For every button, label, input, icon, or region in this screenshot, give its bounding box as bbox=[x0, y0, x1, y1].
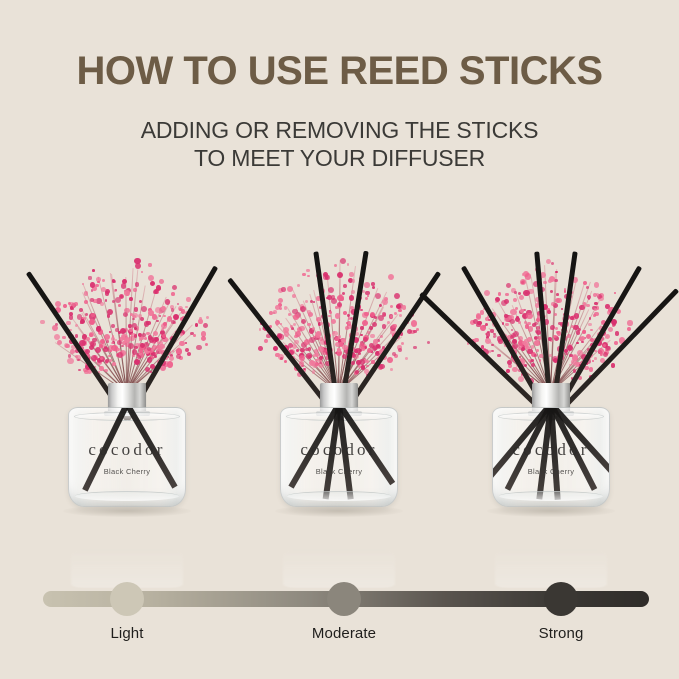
flower-bloom bbox=[387, 357, 393, 363]
flower-bloom bbox=[294, 335, 298, 339]
flower-bloom bbox=[364, 339, 367, 342]
flower-bloom bbox=[556, 331, 560, 335]
flower-bloom bbox=[535, 330, 538, 333]
flower-bloom bbox=[323, 274, 328, 279]
flower-bloom bbox=[362, 320, 368, 326]
flower-bloom bbox=[148, 348, 154, 354]
flower-bloom bbox=[133, 288, 136, 291]
flower-bloom bbox=[394, 312, 397, 315]
flower-bloom bbox=[550, 325, 555, 330]
flower-bloom bbox=[96, 326, 101, 331]
flower-bloom bbox=[427, 341, 431, 345]
flower-bloom bbox=[551, 302, 555, 306]
flower-stem bbox=[338, 277, 341, 392]
flower-bloom bbox=[373, 339, 379, 345]
flower-bloom bbox=[518, 340, 524, 346]
flower-bloom bbox=[337, 302, 342, 307]
flower-bloom bbox=[594, 312, 598, 316]
flower-bloom bbox=[525, 292, 528, 295]
flower-bloom bbox=[536, 349, 539, 352]
flower-bloom bbox=[144, 347, 147, 350]
flower-bloom bbox=[390, 305, 393, 308]
flower-bloom bbox=[97, 358, 102, 363]
flower-bloom bbox=[312, 370, 315, 373]
flower-bloom bbox=[558, 322, 562, 326]
flower-bloom bbox=[124, 337, 129, 342]
flower-bloom bbox=[179, 341, 184, 346]
flower-bloom bbox=[105, 360, 108, 363]
flower-bloom bbox=[152, 314, 158, 320]
flower-bloom bbox=[138, 352, 143, 357]
flower-bloom bbox=[160, 330, 165, 335]
flower-bloom bbox=[148, 335, 153, 340]
flower-stem bbox=[126, 310, 184, 393]
flower-bloom bbox=[306, 353, 312, 359]
flower-bloom bbox=[337, 295, 343, 301]
flower-bloom bbox=[345, 326, 349, 330]
flower-bloom bbox=[397, 303, 403, 309]
flower-bloom bbox=[92, 286, 97, 291]
flower-bloom bbox=[170, 354, 173, 357]
diffuser-comparison-group: cocodor Black Cherry cocodor Black Cherr… bbox=[0, 205, 679, 565]
flower-bloom bbox=[157, 341, 159, 343]
flower-bloom bbox=[347, 321, 352, 326]
flower-bloom bbox=[288, 313, 291, 316]
flower-bloom bbox=[135, 282, 140, 287]
flower-bloom bbox=[318, 322, 322, 326]
flower-bloom bbox=[308, 347, 312, 351]
flower-bloom bbox=[598, 348, 604, 354]
flower-bloom bbox=[124, 290, 126, 292]
flower-bloom bbox=[588, 298, 591, 301]
flower-bloom bbox=[193, 334, 196, 337]
flower-bloom bbox=[90, 298, 93, 301]
bottle-label: cocodor Black Cherry bbox=[492, 441, 610, 476]
flower-bloom bbox=[163, 315, 166, 318]
flower-bloom bbox=[382, 299, 388, 305]
flower-bloom bbox=[144, 342, 149, 347]
flower-bloom bbox=[534, 337, 537, 340]
flower-bloom bbox=[153, 290, 157, 294]
flower-bloom bbox=[142, 333, 146, 337]
flower-bloom bbox=[374, 316, 377, 319]
flower-bloom bbox=[75, 355, 78, 358]
flower-bloom bbox=[321, 349, 327, 355]
flower-bloom bbox=[486, 336, 489, 339]
intensity-label-light: Light bbox=[47, 625, 207, 642]
flower-bloom bbox=[138, 333, 142, 337]
flower-bloom bbox=[111, 337, 115, 341]
flower-bloom bbox=[319, 337, 323, 341]
flower-bloom bbox=[80, 322, 82, 324]
diffuser-moderate: cocodor Black Cherry bbox=[234, 205, 444, 565]
flower-bloom bbox=[164, 361, 169, 366]
flower-bloom bbox=[186, 297, 191, 302]
flower-bloom bbox=[597, 294, 602, 299]
flower-bloom bbox=[131, 333, 135, 337]
flower-bloom bbox=[349, 295, 355, 301]
flower-bloom bbox=[91, 342, 94, 345]
flower-bloom bbox=[371, 282, 375, 286]
flower-bloom bbox=[348, 278, 353, 283]
flower-bloom bbox=[587, 295, 591, 299]
flower-bloom bbox=[369, 326, 373, 330]
flower-bloom bbox=[315, 362, 319, 366]
flower-bloom bbox=[147, 347, 151, 351]
flower-bloom bbox=[92, 338, 97, 343]
flower-bloom bbox=[505, 323, 508, 326]
flower-bloom bbox=[203, 323, 208, 328]
flower-bloom bbox=[515, 307, 518, 310]
flower-bloom bbox=[551, 262, 555, 266]
flower-bloom bbox=[300, 304, 305, 309]
flower-bloom bbox=[382, 324, 386, 328]
flower-bloom bbox=[104, 346, 107, 349]
flower-bloom bbox=[97, 281, 99, 283]
flower-bloom bbox=[490, 329, 493, 332]
flower-bloom bbox=[162, 335, 166, 339]
flower-bloom bbox=[319, 362, 321, 364]
flower-bloom bbox=[100, 339, 106, 345]
bottle-label: cocodor Black Cherry bbox=[280, 441, 398, 476]
flower-bloom bbox=[554, 336, 559, 341]
flower-bloom bbox=[556, 293, 559, 296]
flower-bloom bbox=[304, 339, 310, 345]
flower-bloom bbox=[69, 302, 74, 307]
flower-bloom bbox=[147, 357, 152, 362]
flower-bloom bbox=[539, 359, 542, 362]
flower-bloom bbox=[524, 339, 528, 343]
flower-bloom bbox=[264, 339, 268, 343]
flower-bloom bbox=[534, 354, 538, 358]
flower-bloom bbox=[106, 340, 108, 342]
flower-bloom bbox=[413, 330, 417, 334]
flower-bloom bbox=[370, 313, 375, 318]
flower-bloom bbox=[95, 347, 101, 353]
flower-bloom bbox=[519, 295, 524, 300]
flower-bloom bbox=[91, 313, 95, 317]
flower-bloom bbox=[511, 288, 516, 293]
flower-bloom bbox=[52, 325, 58, 331]
flower-bloom bbox=[300, 306, 306, 312]
flower-bloom bbox=[139, 300, 142, 303]
flower-bloom bbox=[553, 303, 558, 308]
flower-bloom bbox=[159, 279, 164, 284]
flower-bloom bbox=[273, 310, 277, 314]
flower-bloom bbox=[196, 345, 202, 351]
flower-bloom bbox=[627, 320, 632, 325]
flower-bloom bbox=[281, 287, 286, 292]
intensity-scale: Light Moderate Strong bbox=[0, 570, 679, 679]
flower-bloom bbox=[206, 316, 209, 319]
intensity-knob-strong[interactable] bbox=[544, 582, 578, 616]
flower-bloom bbox=[568, 344, 571, 347]
flower-bloom bbox=[505, 293, 509, 297]
flower-bloom bbox=[291, 327, 294, 330]
flower-bloom bbox=[172, 350, 174, 352]
flower-bloom bbox=[370, 312, 375, 317]
flower-bloom bbox=[341, 338, 346, 343]
flower-bloom bbox=[134, 258, 140, 264]
bottle-label: cocodor Black Cherry bbox=[68, 441, 186, 476]
flower-bloom bbox=[520, 309, 524, 313]
page-title: HOW TO USE REED STICKS bbox=[0, 0, 679, 92]
flower-bloom bbox=[89, 333, 93, 337]
flower-bloom bbox=[178, 306, 183, 311]
flower-bloom bbox=[159, 311, 162, 314]
flower-bloom bbox=[337, 272, 343, 278]
flower-bloom bbox=[365, 297, 368, 300]
flower-bloom bbox=[273, 312, 276, 315]
diffuser-bottle: cocodor Black Cherry bbox=[280, 407, 398, 507]
flower-bloom bbox=[318, 346, 324, 352]
flower-bloom bbox=[146, 332, 150, 336]
flower-bloom bbox=[97, 326, 101, 330]
flower-bloom bbox=[524, 342, 529, 347]
flower-bloom bbox=[176, 354, 181, 359]
flower-bloom bbox=[534, 322, 537, 325]
flower-bloom bbox=[297, 284, 300, 287]
flower-bloom bbox=[611, 363, 616, 368]
flower-bloom bbox=[299, 326, 304, 331]
flower-bloom bbox=[583, 330, 585, 332]
flower-bloom bbox=[394, 293, 400, 299]
flower-bloom bbox=[119, 337, 123, 341]
flower-bloom bbox=[377, 345, 381, 349]
flower-bloom bbox=[608, 327, 613, 332]
flower-bloom bbox=[573, 354, 577, 358]
flower-stem bbox=[98, 276, 128, 392]
fragrance-name: Black Cherry bbox=[68, 467, 186, 476]
flower-bloom bbox=[109, 331, 111, 333]
flower-bloom bbox=[314, 349, 318, 353]
flower-bloom bbox=[513, 331, 519, 337]
flower-bloom bbox=[480, 310, 484, 314]
flower-bloom bbox=[334, 264, 337, 267]
flower-bloom bbox=[367, 331, 370, 334]
flower-bloom bbox=[588, 323, 591, 326]
flower-bloom bbox=[586, 304, 590, 308]
flower-bloom bbox=[536, 326, 540, 330]
flower-bloom bbox=[185, 348, 189, 352]
flower-bloom bbox=[105, 289, 110, 294]
flower-bloom bbox=[140, 317, 144, 321]
flower-bloom bbox=[318, 362, 324, 368]
flower-bloom bbox=[531, 359, 534, 362]
flower-bloom bbox=[528, 359, 532, 363]
flower-bloom bbox=[169, 356, 174, 361]
flower-bloom bbox=[389, 314, 393, 318]
flower-bloom bbox=[284, 360, 287, 363]
flower-bloom bbox=[382, 312, 387, 317]
flower-bloom bbox=[383, 313, 386, 316]
flower-bloom bbox=[157, 345, 161, 349]
flower-bloom bbox=[112, 279, 116, 283]
page-subtitle: ADDING OR REMOVING THE STICKS TO MEET YO… bbox=[0, 92, 679, 172]
flower-bloom bbox=[62, 336, 65, 339]
flower-bloom bbox=[477, 321, 482, 326]
diffuser-bottle: cocodor Black Cherry bbox=[492, 407, 610, 507]
flower-bloom bbox=[340, 258, 346, 264]
flower-bloom bbox=[316, 331, 321, 336]
flower-bloom bbox=[594, 302, 598, 306]
flower-bloom bbox=[306, 269, 310, 273]
flower-bloom bbox=[484, 290, 490, 296]
flower-bloom bbox=[107, 314, 111, 318]
flower-bloom bbox=[335, 306, 338, 309]
flower-bloom bbox=[305, 348, 308, 351]
flower-bloom bbox=[83, 368, 88, 373]
flower-bloom bbox=[296, 349, 299, 352]
flower-bloom bbox=[172, 285, 178, 291]
flower-bloom bbox=[582, 330, 586, 334]
flower-bloom bbox=[122, 279, 127, 284]
flower-bloom bbox=[112, 341, 115, 344]
flower-bloom bbox=[521, 281, 524, 284]
intensity-knob-moderate[interactable] bbox=[327, 582, 361, 616]
flower-bloom bbox=[337, 352, 340, 355]
flower-bloom bbox=[504, 314, 507, 317]
flower-bloom bbox=[129, 336, 135, 342]
flower-bloom bbox=[495, 297, 500, 302]
flower-bloom bbox=[309, 360, 315, 366]
flower-bloom bbox=[360, 341, 364, 345]
flower-bloom bbox=[516, 316, 519, 319]
flower-bloom bbox=[573, 325, 578, 330]
flower-bloom bbox=[392, 352, 396, 356]
flower-bloom bbox=[112, 335, 115, 338]
flower-bloom bbox=[95, 357, 98, 360]
flower-bloom bbox=[326, 297, 329, 300]
flower-bloom bbox=[74, 302, 78, 306]
flower-bloom bbox=[521, 347, 525, 351]
flower-bloom bbox=[600, 353, 603, 356]
flower-bloom bbox=[522, 348, 525, 351]
flower-bloom bbox=[504, 299, 509, 304]
flower-bloom bbox=[132, 349, 138, 355]
flower-bloom bbox=[159, 341, 163, 345]
flower-bloom bbox=[527, 349, 532, 354]
flower-bloom bbox=[411, 320, 417, 326]
flower-bloom bbox=[114, 289, 117, 292]
flower-stem bbox=[110, 273, 128, 392]
flower-bloom bbox=[280, 357, 283, 360]
flower-bloom bbox=[100, 343, 105, 348]
flower-stem bbox=[338, 260, 341, 392]
flower-bloom bbox=[278, 298, 283, 303]
flower-bloom bbox=[613, 323, 616, 326]
flower-bloom bbox=[312, 361, 318, 367]
flower-bloom bbox=[336, 350, 342, 356]
flower-bloom bbox=[258, 346, 263, 351]
flower-stem bbox=[111, 274, 127, 392]
flower-bloom bbox=[300, 348, 304, 352]
flower-bloom bbox=[89, 345, 94, 350]
flower-bloom bbox=[144, 348, 150, 354]
flower-bloom bbox=[120, 295, 123, 298]
flower-bloom bbox=[598, 296, 604, 302]
flower-bloom bbox=[398, 309, 401, 312]
flower-bloom bbox=[143, 344, 148, 349]
intensity-knob-light[interactable] bbox=[110, 582, 144, 616]
flower-bloom bbox=[355, 370, 359, 374]
flower-bloom bbox=[118, 331, 122, 335]
flower-bloom bbox=[307, 275, 310, 278]
flower-bloom bbox=[338, 349, 341, 352]
flower-bloom bbox=[159, 315, 161, 317]
flower-bloom bbox=[365, 291, 369, 295]
flower-bloom bbox=[351, 361, 355, 365]
flower-bloom bbox=[154, 337, 159, 342]
flower-bloom bbox=[485, 338, 491, 344]
flower-bloom bbox=[315, 353, 319, 357]
flower-bloom bbox=[526, 310, 532, 316]
flower-bloom bbox=[577, 350, 583, 356]
flower-bloom bbox=[86, 337, 90, 341]
flower-bloom bbox=[117, 348, 120, 351]
flower-bloom bbox=[576, 342, 579, 345]
flower-bloom bbox=[129, 331, 133, 335]
flower-bloom bbox=[476, 323, 480, 327]
flower-bloom bbox=[498, 292, 502, 296]
flower-bloom bbox=[125, 342, 130, 347]
flower-bloom bbox=[600, 352, 603, 355]
flower-bloom bbox=[335, 313, 340, 318]
flower-bloom bbox=[534, 340, 539, 345]
flower-bloom bbox=[122, 341, 125, 344]
flower-bloom bbox=[120, 328, 126, 334]
flower-bloom bbox=[485, 323, 488, 326]
flower-bloom bbox=[121, 334, 126, 339]
flower-bloom bbox=[126, 292, 130, 296]
flower-bloom bbox=[173, 321, 176, 324]
flower-bloom bbox=[158, 287, 160, 289]
flower-bloom bbox=[179, 308, 182, 311]
flower-bloom bbox=[350, 306, 354, 310]
flower-bloom bbox=[586, 286, 589, 289]
flower-bloom bbox=[584, 337, 586, 339]
flower-bloom bbox=[84, 317, 87, 320]
flower-bloom bbox=[137, 355, 141, 359]
flower-bloom bbox=[89, 319, 95, 325]
flower-bloom bbox=[293, 323, 296, 326]
flower-bloom bbox=[491, 350, 494, 353]
flower-bloom bbox=[141, 306, 147, 312]
flower-bloom bbox=[569, 364, 572, 367]
flower-bloom bbox=[85, 313, 88, 316]
flower-bloom bbox=[294, 340, 299, 345]
flower-bloom bbox=[364, 282, 370, 288]
flower-bloom bbox=[115, 328, 119, 332]
subtitle-line-2: TO MEET YOUR DIFFUSER bbox=[0, 144, 679, 172]
flower-bloom bbox=[301, 350, 305, 354]
flower-bloom bbox=[394, 354, 398, 358]
flower-bloom bbox=[176, 348, 182, 354]
flower-bloom bbox=[493, 335, 496, 338]
flower-bloom bbox=[359, 343, 365, 349]
flower-bloom bbox=[338, 335, 341, 338]
flower-bloom bbox=[133, 313, 138, 318]
flower-bloom bbox=[605, 346, 610, 351]
flower-bloom bbox=[93, 299, 97, 303]
flower-bloom bbox=[413, 346, 417, 350]
flower-bloom bbox=[592, 306, 597, 311]
flower-bloom bbox=[305, 300, 308, 303]
flower-bloom bbox=[522, 313, 528, 319]
flower-bloom bbox=[526, 346, 530, 350]
flower-bloom bbox=[93, 359, 96, 362]
flower-bloom bbox=[480, 325, 486, 331]
